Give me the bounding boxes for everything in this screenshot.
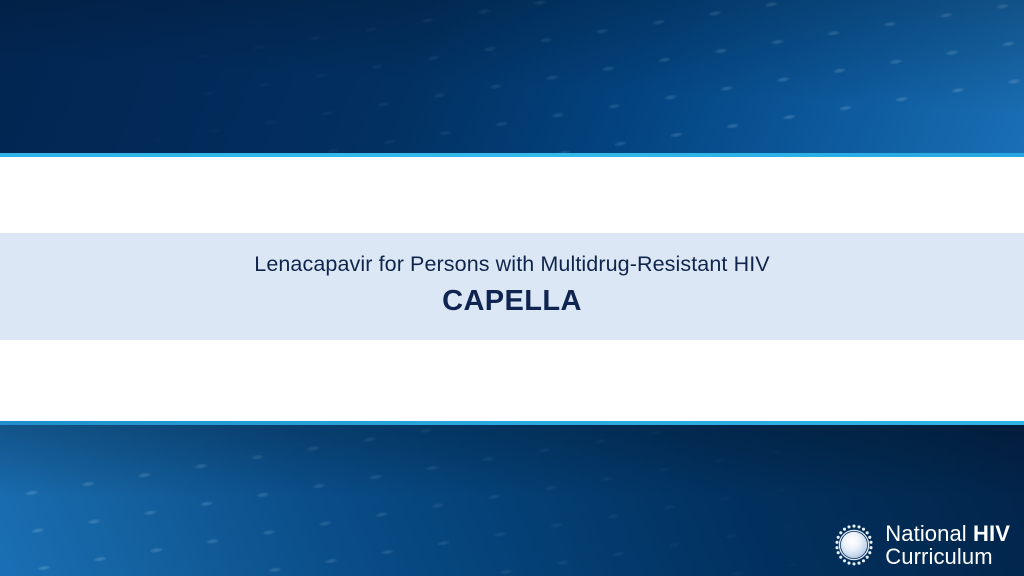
logo-line-national-hiv: National HIV [885, 523, 1010, 545]
logo-word-hiv: HIV [973, 521, 1010, 546]
slide-canvas: Lenacapavir for Persons with Multidrug-R… [0, 0, 1024, 576]
top-banner [0, 0, 1024, 153]
logo-word-curriculum: Curriculum [885, 546, 1010, 568]
title-band: Lenacapavir for Persons with Multidrug-R… [0, 233, 1024, 340]
top-accent-rule [0, 153, 1024, 157]
national-hiv-curriculum-logo: National HIV Curriculum [831, 522, 1010, 568]
slide-subtitle: Lenacapavir for Persons with Multidrug-R… [0, 251, 1024, 277]
bottom-banner: National HIV Curriculum [0, 425, 1024, 576]
top-banner-dot-pattern [0, 0, 1024, 153]
logo-word-national: National [885, 521, 973, 546]
radiating-circle-icon [831, 522, 877, 568]
logo-wordmark: National HIV Curriculum [885, 523, 1010, 568]
page-title: CAPELLA [0, 283, 1024, 319]
